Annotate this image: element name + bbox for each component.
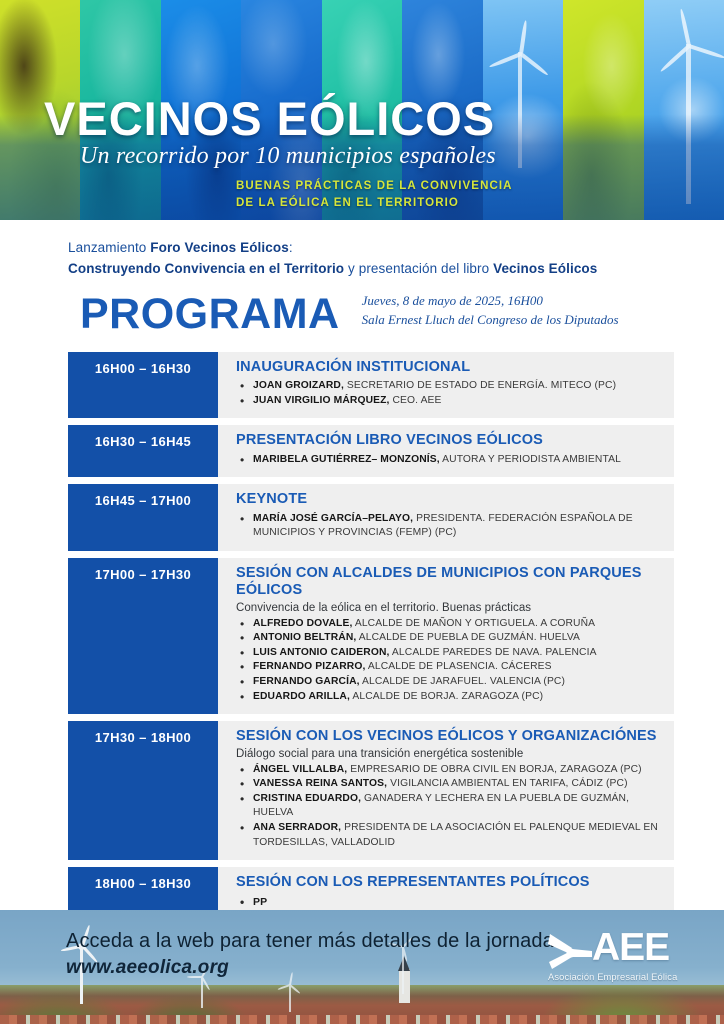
speaker-name: FERNANDO PIZARRO,: [253, 661, 365, 672]
row-title: SESIÓN CON LOS REPRESENTANTES POLÍTICOS: [236, 874, 664, 891]
row-time: 17H00 – 17H30: [68, 558, 218, 714]
list-item: ÁNGEL VILLALBA, EMPRESARIO DE OBRA CIVIL…: [236, 763, 664, 778]
speaker-name: JOAN GROIZARD,: [253, 380, 344, 391]
row-content: PRESENTACIÓN LIBRO VECINOS EÓLICOS MARIB…: [218, 425, 674, 477]
speaker-name: FERNANDO GARCÍA,: [253, 676, 360, 687]
list-item: ANA SERRADOR, PRESIDENTA DE LA ASOCIACIÓ…: [236, 821, 664, 850]
list-item: PP: [236, 895, 664, 910]
launch-colon: :: [289, 240, 293, 255]
speaker-name: ANTONIO BELTRÁN,: [253, 632, 356, 643]
table-row: 16H30 – 16H45 PRESENTACIÓN LIBRO VECINOS…: [68, 425, 674, 477]
speaker-name: CRISTINA EDUARDO,: [253, 793, 361, 804]
aee-logo: AEE Asociación Empresarial Eólica: [546, 928, 706, 992]
banner-main-title: VECINOS EÓLICOS: [44, 96, 684, 141]
row-content: KEYNOTE MARÍA JOSÉ GARCÍA–PELAYO, PRESID…: [218, 484, 674, 551]
row-title: SESIÓN CON LOS VECINOS EÓLICOS Y ORGANIZ…: [236, 728, 664, 745]
speaker-role: ALCALDE DE PUEBLA DE GUZMÁN. HUELVA: [356, 632, 580, 643]
speaker-name: JUAN VIRGILIO MÁRQUEZ,: [253, 395, 390, 406]
speaker-name: LUIS ANTONIO CAIDERON,: [253, 647, 390, 658]
forum-name: Foro Vecinos Eólicos: [150, 240, 289, 255]
speaker-list: ÁNGEL VILLALBA, EMPRESARIO DE OBRA CIVIL…: [236, 763, 664, 851]
book-line: Construyendo Convivencia en el Territori…: [68, 259, 674, 280]
banner-tagline-line-1: BUENAS PRÁCTICAS DE LA CONVIVENCIA: [236, 178, 513, 195]
footer-text-group: Acceda a la web para tener más detalles …: [66, 930, 554, 979]
table-row: 17H00 – 17H30 SESIÓN CON ALCALDES DE MUN…: [68, 558, 674, 714]
footer-banner: Acceda a la web para tener más detalles …: [0, 910, 724, 1024]
speaker-name: ALFREDO DOVALE,: [253, 618, 352, 629]
table-row: 16H00 – 16H30 INAUGURACIÓN INSTITUCIONAL…: [68, 352, 674, 419]
page-title: PROGRAMA: [80, 293, 340, 336]
speaker-role: ALCALDE DE MAÑON Y ORTIGUELA. A CORUÑA: [352, 618, 595, 629]
hero-banner: VECINOS EÓLICOS Un recorrido por 10 muni…: [0, 0, 724, 220]
row-title: KEYNOTE: [236, 491, 664, 508]
list-item: ANTONIO BELTRÁN, ALCALDE DE PUEBLA DE GU…: [236, 631, 664, 646]
row-subtitle: Diálogo social para una transición energ…: [236, 748, 664, 760]
row-time: 16H00 – 16H30: [68, 352, 218, 419]
list-item: FERNANDO PIZARRO, ALCALDE DE PLASENCIA. …: [236, 660, 664, 675]
launch-prefix: Lanzamiento: [68, 240, 150, 255]
list-item: MARÍA JOSÉ GARCÍA–PELAYO, PRESIDENTA. FE…: [236, 512, 664, 541]
speaker-name: EDUARDO ARILLA,: [253, 691, 350, 702]
banner-tagline-line-2: DE LA EÓLICA EN EL TERRITORIO: [236, 195, 513, 212]
program-heading-row: PROGRAMA Jueves, 8 de mayo de 2025, 16H0…: [68, 292, 674, 336]
list-item: EDUARDO ARILLA, ALCALDE DE BORJA. ZARAGO…: [236, 690, 664, 705]
event-when-block: Jueves, 8 de mayo de 2025, 16H00 Sala Er…: [362, 292, 619, 336]
theme-title: Construyendo Convivencia en el Territori…: [68, 261, 344, 276]
speaker-role: ALCALDE DE PLASENCIA. CÁCERES: [365, 661, 551, 672]
speaker-name: ANA SERRADOR,: [253, 822, 341, 833]
speaker-list: MARIBELA GUTIÉRREZ– MONZONÍS, AUTORA Y P…: [236, 453, 664, 468]
speaker-name: MARIBELA GUTIÉRREZ– MONZONÍS,: [253, 454, 440, 465]
row-time: 16H30 – 16H45: [68, 425, 218, 477]
speaker-list: JOAN GROIZARD, SECRETARIO DE ESTADO DE E…: [236, 379, 664, 408]
banner-title-group: VECINOS EÓLICOS Un recorrido por 10 muni…: [44, 96, 684, 170]
table-row: 16H45 – 17H00 KEYNOTE MARÍA JOSÉ GARCÍA–…: [68, 484, 674, 551]
banner-tagline: BUENAS PRÁCTICAS DE LA CONVIVENCIA DE LA…: [236, 178, 513, 213]
event-venue: Sala Ernest Lluch del Congreso de los Di…: [362, 311, 619, 330]
row-title: INAUGURACIÓN INSTITUCIONAL: [236, 359, 664, 376]
aee-turbine-mark-icon: [546, 932, 596, 974]
aee-logo-text: AEE: [592, 928, 669, 967]
event-date: Jueves, 8 de mayo de 2025, 16H00: [362, 292, 619, 311]
list-item: VANESSA REINA SANTOS, VIGILANCIA AMBIENT…: [236, 777, 664, 792]
speaker-list: ALFREDO DOVALE, ALCALDE DE MAÑON Y ORTIG…: [236, 617, 664, 705]
list-item: MARIBELA GUTIÉRREZ– MONZONÍS, AUTORA Y P…: [236, 453, 664, 468]
speaker-name: MARÍA JOSÉ GARCÍA–PELAYO,: [253, 513, 413, 524]
table-row: 17H30 – 18H00 SESIÓN CON LOS VECINOS EÓL…: [68, 721, 674, 860]
speaker-name: ÁNGEL VILLALBA,: [253, 764, 347, 775]
row-content: SESIÓN CON LOS VECINOS EÓLICOS Y ORGANIZ…: [218, 721, 674, 860]
row-time: 16H45 – 17H00: [68, 484, 218, 551]
row-title: PRESENTACIÓN LIBRO VECINOS EÓLICOS: [236, 432, 664, 449]
row-time: 17H30 – 18H00: [68, 721, 218, 860]
list-item: JOAN GROIZARD, SECRETARIO DE ESTADO DE E…: [236, 379, 664, 394]
list-item: ALFREDO DOVALE, ALCALDE DE MAÑON Y ORTIG…: [236, 617, 664, 632]
launch-line: Lanzamiento Foro Vecinos Eólicos:: [68, 238, 674, 259]
speaker-name: VANESSA REINA SANTOS,: [253, 778, 387, 789]
list-item: LUIS ANTONIO CAIDERON, ALCALDE PAREDES D…: [236, 646, 664, 661]
row-content: SESIÓN CON ALCALDES DE MUNICIPIOS CON PA…: [218, 558, 674, 714]
speaker-role: ALCALDE DE BORJA. ZARAGOZA (PC): [350, 691, 543, 702]
speaker-role: EMPRESARIO DE OBRA CIVIL EN BORJA, ZARAG…: [347, 764, 641, 775]
row-subtitle: Convivencia de la eólica en el territori…: [236, 602, 664, 614]
speaker-role: CEO. AEE: [390, 395, 442, 406]
list-item: FERNANDO GARCÍA, ALCALDE DE JARAFUEL. VA…: [236, 675, 664, 690]
header-block: Lanzamiento Foro Vecinos Eólicos: Constr…: [0, 220, 724, 336]
banner-subtitle: Un recorrido por 10 municipios españoles: [80, 143, 684, 170]
list-item: CRISTINA EDUARDO, GANADERA Y LECHERA EN …: [236, 792, 664, 821]
book-connector: y presentación del libro: [344, 261, 493, 276]
website-link[interactable]: www.aeeolica.org: [66, 957, 554, 979]
list-item: JUAN VIRGILIO MÁRQUEZ, CEO. AEE: [236, 394, 664, 409]
speaker-role: ALCALDE PAREDES DE NAVA. PALENCIA: [390, 647, 597, 658]
book-title: Vecinos Eólicos: [493, 261, 597, 276]
speaker-role: SECRETARIO DE ESTADO DE ENERGÍA. MITECO …: [344, 380, 616, 391]
speaker-list: MARÍA JOSÉ GARCÍA–PELAYO, PRESIDENTA. FE…: [236, 512, 664, 541]
aee-logo-subtitle: Asociación Empresarial Eólica: [548, 972, 677, 982]
speaker-role: AUTORA Y PERIODISTA AMBIENTAL: [440, 454, 621, 465]
row-title: SESIÓN CON ALCALDES DE MUNICIPIOS CON PA…: [236, 565, 664, 600]
speaker-role: ALCALDE DE JARAFUEL. VALENCIA (PC): [360, 676, 565, 687]
schedule-table: 16H00 – 16H30 INAUGURACIÓN INSTITUCIONAL…: [0, 352, 724, 1005]
footer-cta-text: Acceda a la web para tener más detalles …: [66, 930, 554, 953]
footer-rooftops: [0, 1015, 724, 1024]
row-content: INAUGURACIÓN INSTITUCIONAL JOAN GROIZARD…: [218, 352, 674, 419]
speaker-role: VIGILANCIA AMBIENTAL EN TARIFA, CÁDIZ (P…: [387, 778, 628, 789]
